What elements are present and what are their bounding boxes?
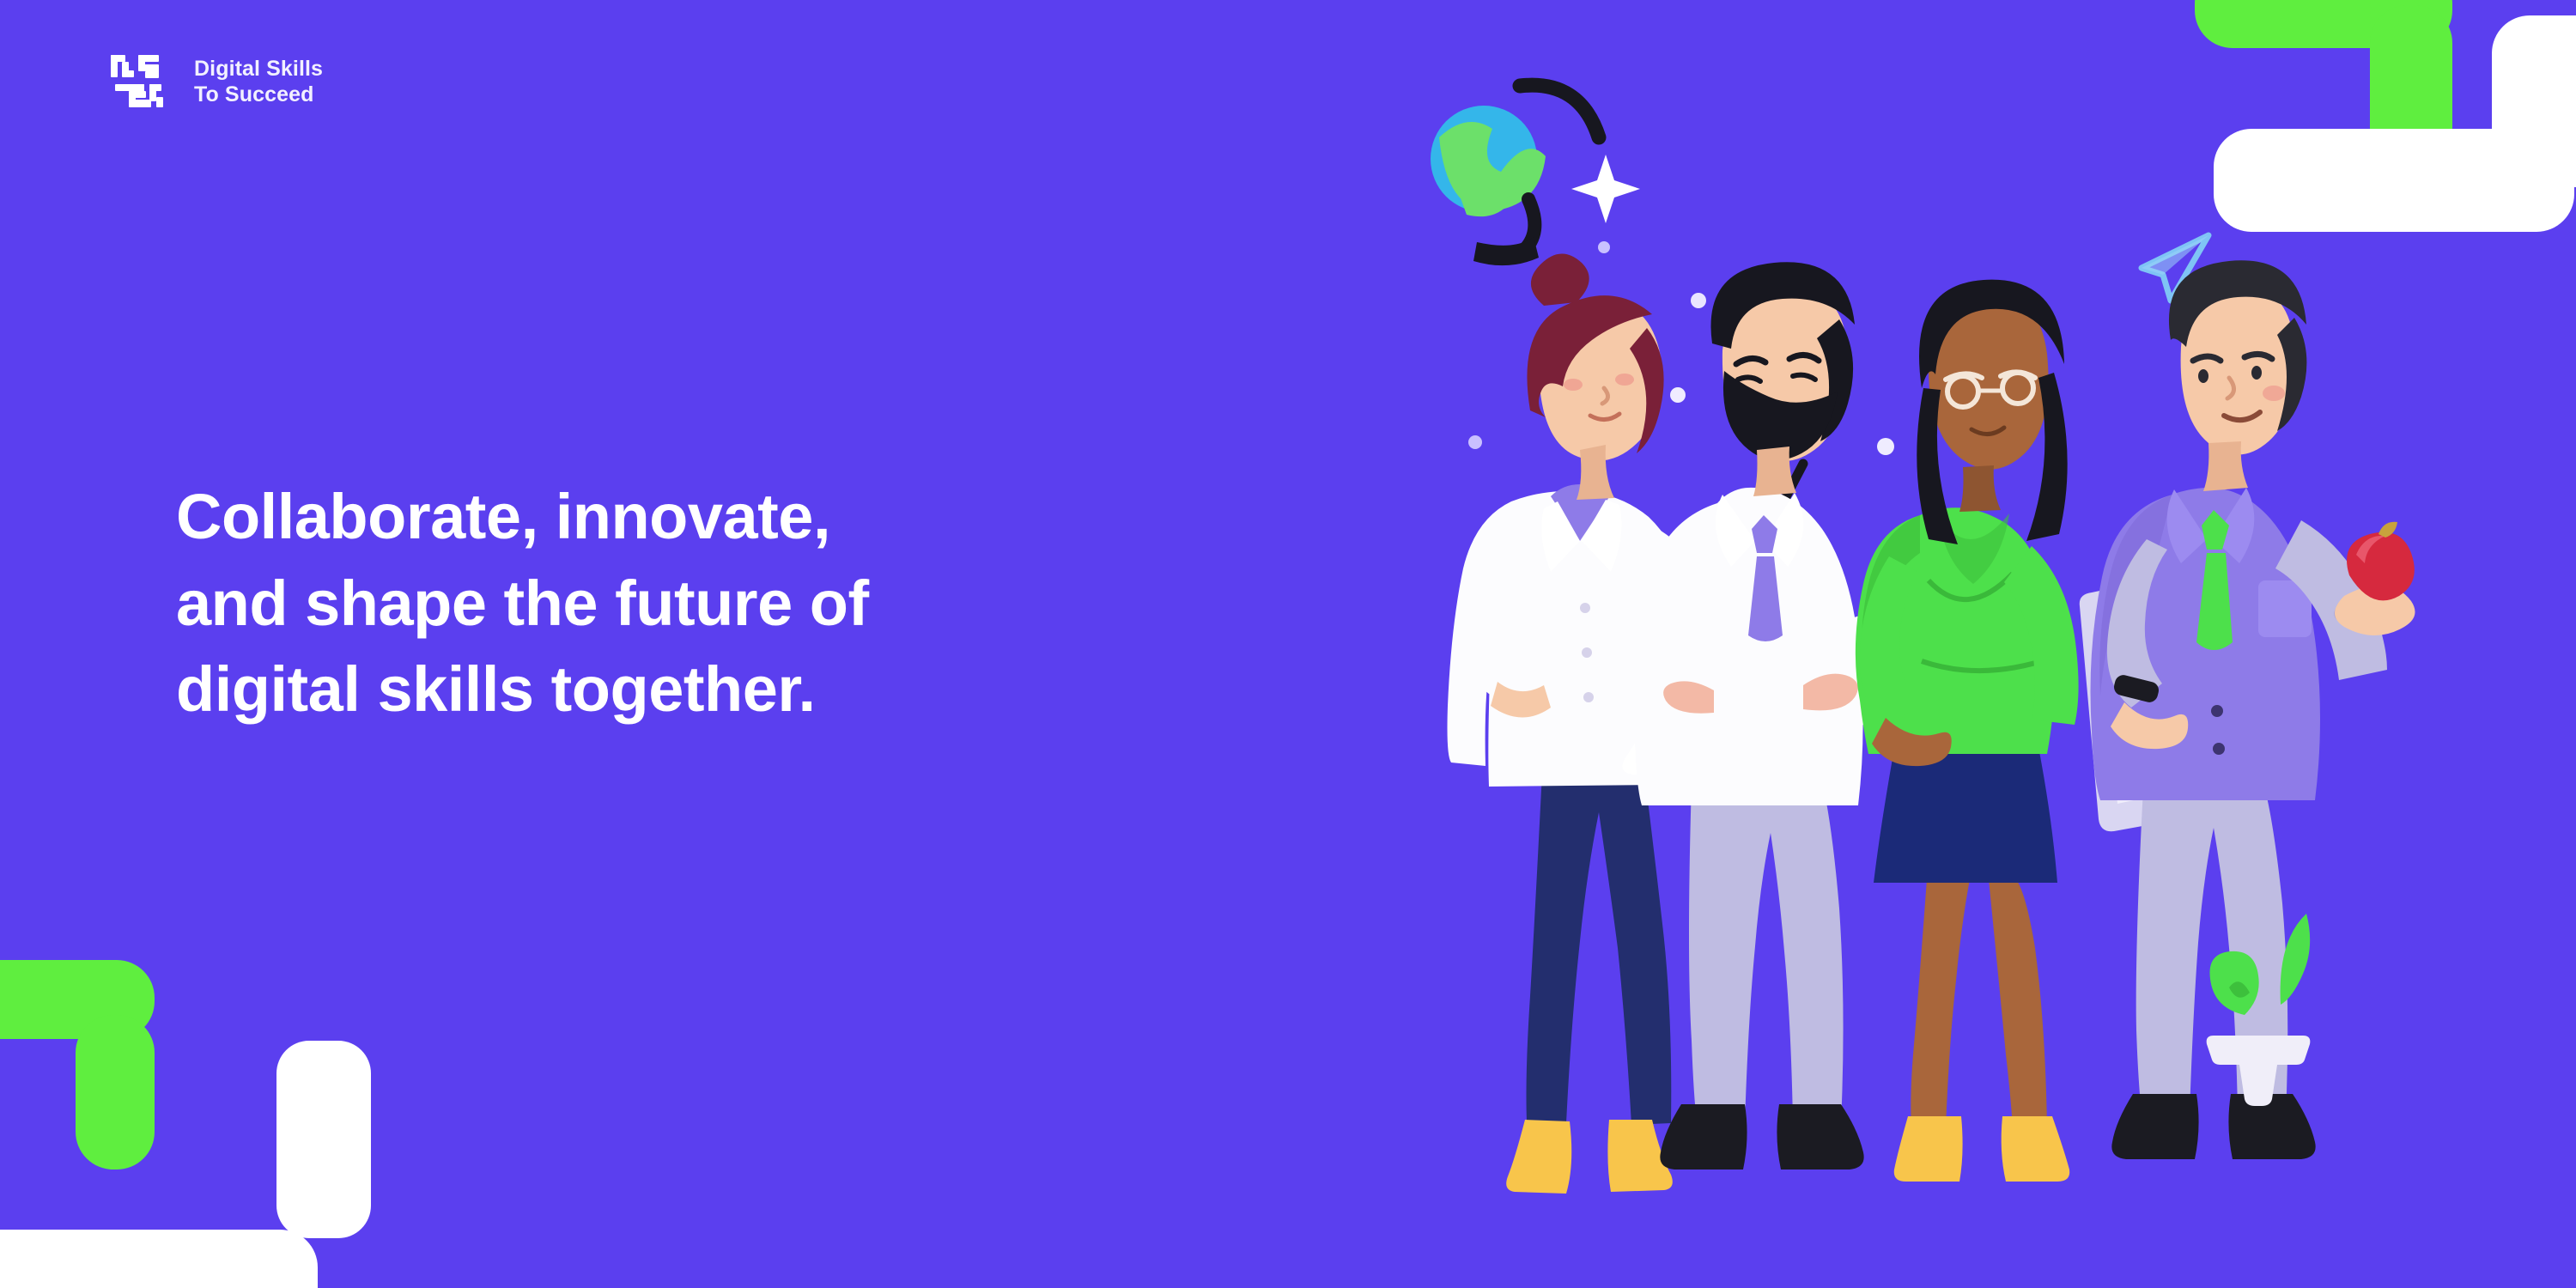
dot-decor-4 — [1468, 435, 1482, 449]
brand-name-line-1: Digital Skills — [194, 56, 323, 82]
brand-name-line-2: To Succeed — [194, 82, 323, 108]
team-illustration — [1202, 0, 2576, 1288]
brand-logo[interactable]: Digital Skills To Succeed — [110, 50, 323, 113]
dot-decor-2 — [1598, 241, 1610, 253]
headline-line-3: digital skills together. — [176, 647, 1198, 733]
hero-banner: Digital Skills To Succeed Collaborate, i… — [0, 0, 2576, 1288]
character-woman-green-top — [1856, 280, 2079, 1182]
character-bearded-man — [1634, 262, 1890, 1170]
globe-icon — [1431, 85, 1599, 265]
brand-wordmark: Digital Skills To Succeed — [194, 56, 323, 108]
character-man-purple-shirt — [2091, 260, 2415, 1159]
headline-line-2: and shape the future of — [176, 561, 1198, 647]
bottom-left-white-block — [276, 1041, 371, 1238]
bottom-left-white-bar — [0, 1230, 318, 1288]
bottom-left-green-bracket-vertical — [76, 1015, 155, 1170]
headline-line-1: Collaborate, innovate, — [176, 474, 1198, 561]
dot-decor-1 — [1691, 293, 1706, 308]
hero-headline: Collaborate, innovate, and shape the fut… — [176, 474, 1198, 733]
sparkle-icon — [1571, 155, 1640, 223]
ds-maze-logo-icon — [110, 50, 173, 113]
